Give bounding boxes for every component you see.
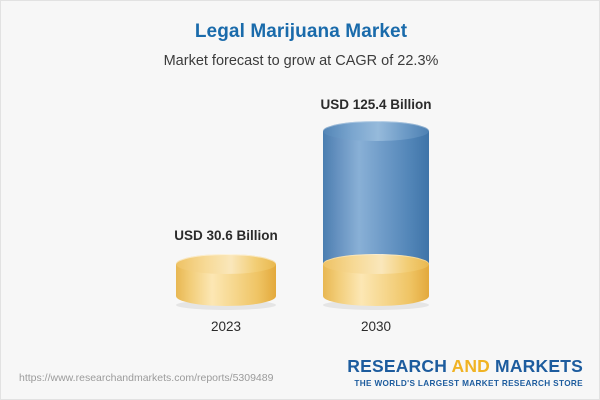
logo-wordmark: RESEARCH AND MARKETS [347, 358, 583, 376]
bar-2030-bottom-cap [323, 286, 429, 306]
category-label-2030: 2030 [276, 319, 476, 334]
logo-word-and: AND [451, 356, 490, 376]
report-url[interactable]: https://www.researchandmarkets.com/repor… [19, 372, 273, 384]
bar-cylinder-2023 [176, 254, 276, 306]
infographic-card: Legal Marijuana Market Market forecast t… [0, 0, 600, 400]
logo-word-markets: MARKETS [490, 356, 583, 376]
bar-cylinder-2030 [323, 121, 429, 306]
bar-2030-growth-segment [323, 131, 429, 264]
logo-tagline: THE WORLD'S LARGEST MARKET RESEARCH STOR… [347, 380, 583, 388]
chart-plot-area: USD 30.6 Billion USD 125.4 Billion 2023 … [1, 1, 600, 346]
logo-word-research: RESEARCH [347, 356, 451, 376]
research-and-markets-logo[interactable]: RESEARCH AND MARKETS THE WORLD'S LARGEST… [347, 358, 583, 388]
bar-2030-top-cap [323, 121, 429, 141]
bar-2030-segment-divider-cap [323, 254, 429, 274]
bar-2023-bottom-cap [176, 286, 276, 306]
data-label-2023: USD 30.6 Billion [126, 228, 326, 243]
bar-2023-top-cap [176, 254, 276, 274]
data-label-2030: USD 125.4 Billion [276, 97, 476, 112]
